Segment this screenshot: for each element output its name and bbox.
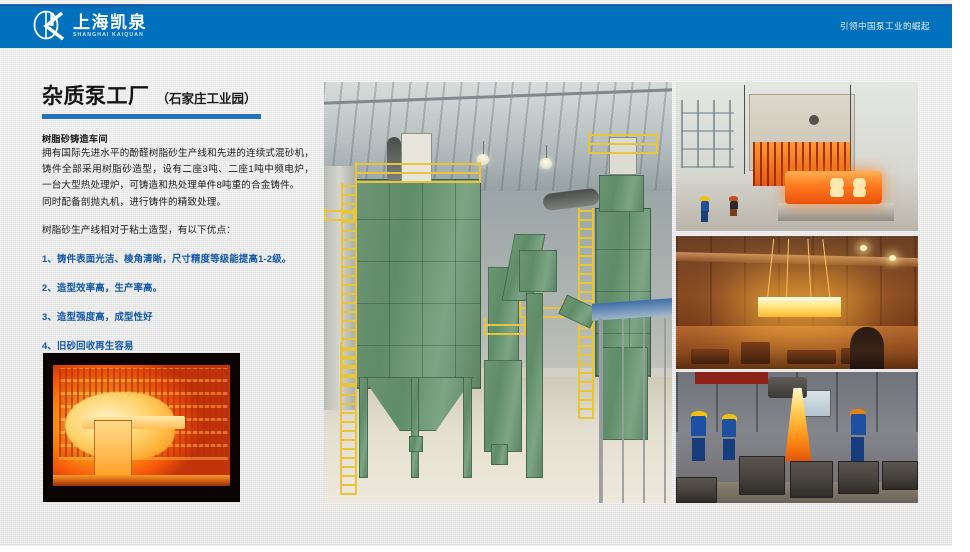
crane-lifting-hot-workpiece-photo	[676, 236, 918, 369]
furnace-loading-photo	[676, 82, 918, 231]
center-green-base	[484, 360, 522, 453]
advantages-list: 1、铸件表面光洁、棱角清晰，尺寸精度等级能提高1-2级。 2、造型效率高，生产率…	[42, 252, 314, 353]
right-silo-top	[599, 175, 644, 213]
paragraph-2: 同时配备剖抛丸机，进行铸件的精致处理。	[42, 195, 314, 211]
support-column	[463, 377, 472, 478]
workshop-window	[681, 100, 734, 169]
furnace-charging-cart	[778, 203, 894, 221]
floor-equipment	[787, 350, 835, 363]
list-item: 4、旧砂回收再生容易	[42, 339, 314, 353]
yellow-roof-railing	[355, 162, 480, 183]
sand-mould-box	[882, 461, 918, 490]
page-title: 杂质泵工厂 （石家庄工业园）	[42, 84, 314, 109]
worker-figure	[722, 414, 737, 460]
worker-torso	[851, 414, 866, 435]
paragraph-1: 拥有国际先进水平的酚醛树脂砂生产线和先进的连续式混砂机，铸件全部采用树脂砂造型，…	[42, 146, 314, 195]
resin-sand-foundry-hall-photo	[324, 82, 672, 503]
list-item: 2、造型效率高，生产率高。	[42, 281, 314, 295]
glowing-casting-box	[94, 420, 131, 481]
slide-canvas: 上海凯泉 SHANGHAI KAIQUAN 引领中国泵工业的崛起 杂质泵工厂 （…	[0, 0, 970, 552]
page-bottom-margin	[0, 546, 970, 552]
sand-mould-box	[790, 461, 834, 498]
ceiling-lamp-icon	[889, 255, 896, 261]
center-outlet	[491, 444, 508, 465]
worker-legs	[701, 211, 708, 222]
worker-figure	[700, 196, 709, 222]
page-right-margin	[952, 0, 970, 552]
sand-mould-box	[838, 461, 879, 494]
worker-legs	[723, 439, 735, 460]
red-wall-band	[695, 372, 768, 384]
support-column	[411, 377, 419, 478]
floor-equipment	[691, 349, 730, 364]
header-top-accent-line	[0, 4, 952, 7]
header-bar: 上海凯泉 SHANGHAI KAIQUAN 引领中国泵工业的崛起	[0, 4, 952, 48]
sand-mould-box	[739, 456, 785, 495]
page-title-sub: （石家庄工业园）	[157, 90, 257, 108]
list-item: 3、造型强度高，成型性好	[42, 310, 314, 324]
gantry-post	[850, 85, 851, 174]
green-support-column	[526, 293, 543, 478]
worker-torso	[691, 416, 706, 436]
list-item: 1、铸件表面光洁、棱角清晰，尺寸精度等级能提高1-2级。	[42, 252, 314, 266]
yellow-roof-railing	[588, 133, 658, 154]
worker-figure	[850, 409, 866, 461]
section-subheading: 树脂砂铸造车间	[42, 132, 314, 146]
yellow-cage-ladder	[340, 343, 357, 495]
green-hopper	[519, 250, 557, 292]
glowing-workpiece	[758, 297, 840, 317]
heat-treatment-furnace-interior-photo	[43, 353, 240, 502]
worker-legs	[730, 209, 737, 216]
discharge-valve	[409, 436, 423, 453]
worker-figure	[729, 196, 738, 216]
worker-legs	[692, 438, 705, 461]
body-text-block: 树脂砂铸造车间 拥有国际先进水平的酚醛树脂砂生产线和先进的连续式混砂机，铸件全部…	[42, 132, 314, 239]
brand-name-cn: 上海凯泉	[73, 13, 147, 32]
worker-silhouette	[850, 327, 884, 369]
crane-hook-icon	[809, 115, 819, 125]
molten-metal-pouring-photo	[676, 372, 918, 503]
title-underline-rule	[42, 114, 261, 119]
brand-logo-text: 上海凯泉 SHANGHAI KAIQUAN	[73, 13, 147, 39]
sand-mould-box	[676, 477, 717, 503]
brand-logo[interactable]: 上海凯泉 SHANGHAI KAIQUAN	[32, 9, 147, 43]
floor-equipment	[741, 342, 770, 363]
paragraph-3: 树脂砂生产线相对于粘土造型，有以下优点：	[42, 223, 314, 239]
support-column	[359, 377, 368, 478]
furnace-hearth-floor	[53, 475, 230, 485]
header-slogan: 引领中国泵工业的崛起	[840, 4, 930, 48]
worker-torso	[730, 201, 738, 209]
worker-legs	[851, 437, 864, 461]
brand-name-en: SHANGHAI KAIQUAN	[73, 32, 147, 39]
green-dust-collector-main	[355, 179, 480, 390]
worker-torso	[722, 419, 736, 437]
left-content-column: 杂质泵工厂 （石家庄工业园） 树脂砂铸造车间 拥有国际先进水平的酚醛树脂砂生产线…	[42, 84, 314, 353]
kaiquan-emblem-icon	[32, 10, 66, 42]
worker-figure	[691, 411, 707, 461]
ceiling-lamp-icon	[540, 158, 552, 169]
gantry-post	[744, 85, 745, 174]
yellow-platform-railing	[484, 318, 526, 335]
side-building-window-wall	[599, 318, 672, 503]
page-title-main: 杂质泵工厂	[42, 84, 150, 109]
glowing-castings-on-cart	[785, 171, 882, 204]
